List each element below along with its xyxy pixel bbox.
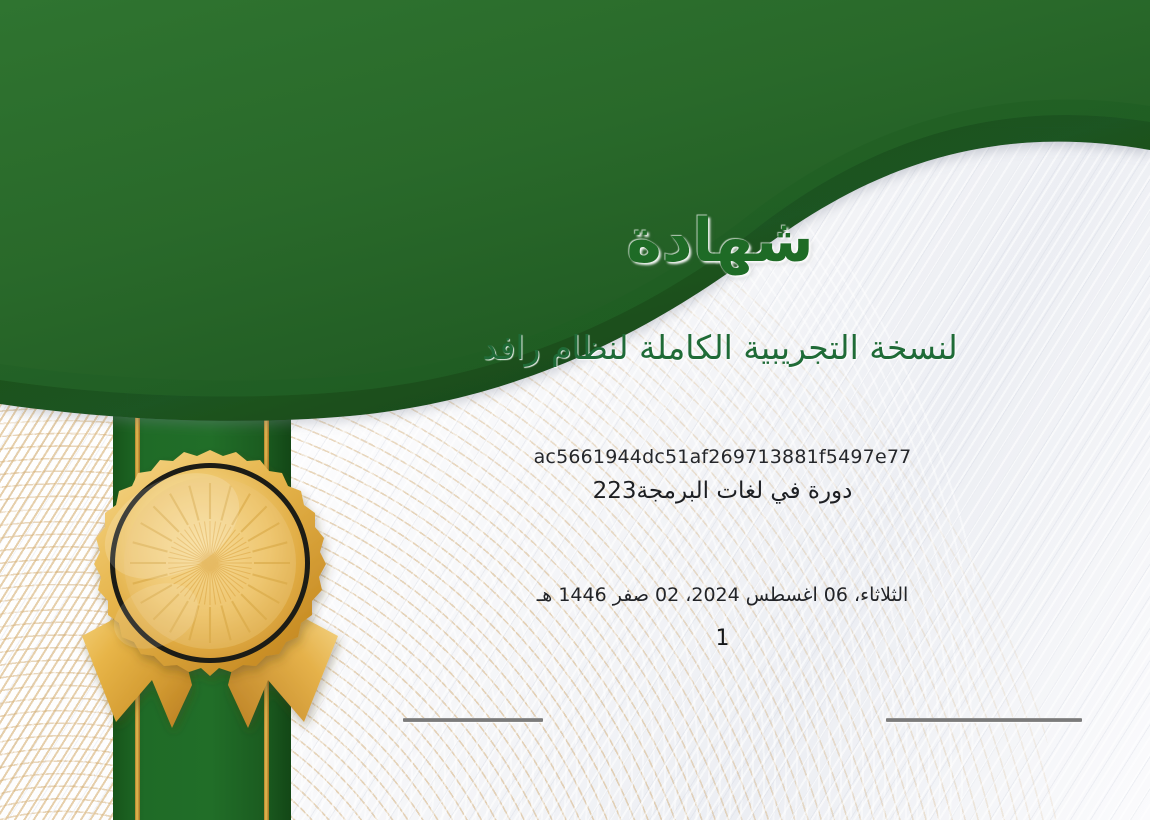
certificate-subtitle: لنسخة التجريبية الكاملة لنظام رافد — [330, 328, 1110, 367]
signature-line-left — [403, 718, 543, 722]
course-name: دورة في لغات البرمجة223 — [330, 478, 1115, 504]
page-title: شهادة — [330, 206, 1110, 276]
certificate-page: شهادة لنسخة التجريبية الكاملة لنظام رافد… — [0, 0, 1150, 820]
serial-number: 1 — [330, 626, 1115, 651]
verification-hash: ac5661944dc51af269713881f5497e77 — [330, 446, 1115, 468]
certificate-content: شهادة لنسخة التجريبية الكاملة لنظام رافد… — [330, 0, 1150, 820]
signature-line-right — [886, 718, 1082, 722]
gold-award-medal-icon — [60, 440, 360, 770]
issue-date: الثلاثاء، 06 اغسطس 2024، 02 صفر 1446 هـ — [330, 584, 1115, 606]
